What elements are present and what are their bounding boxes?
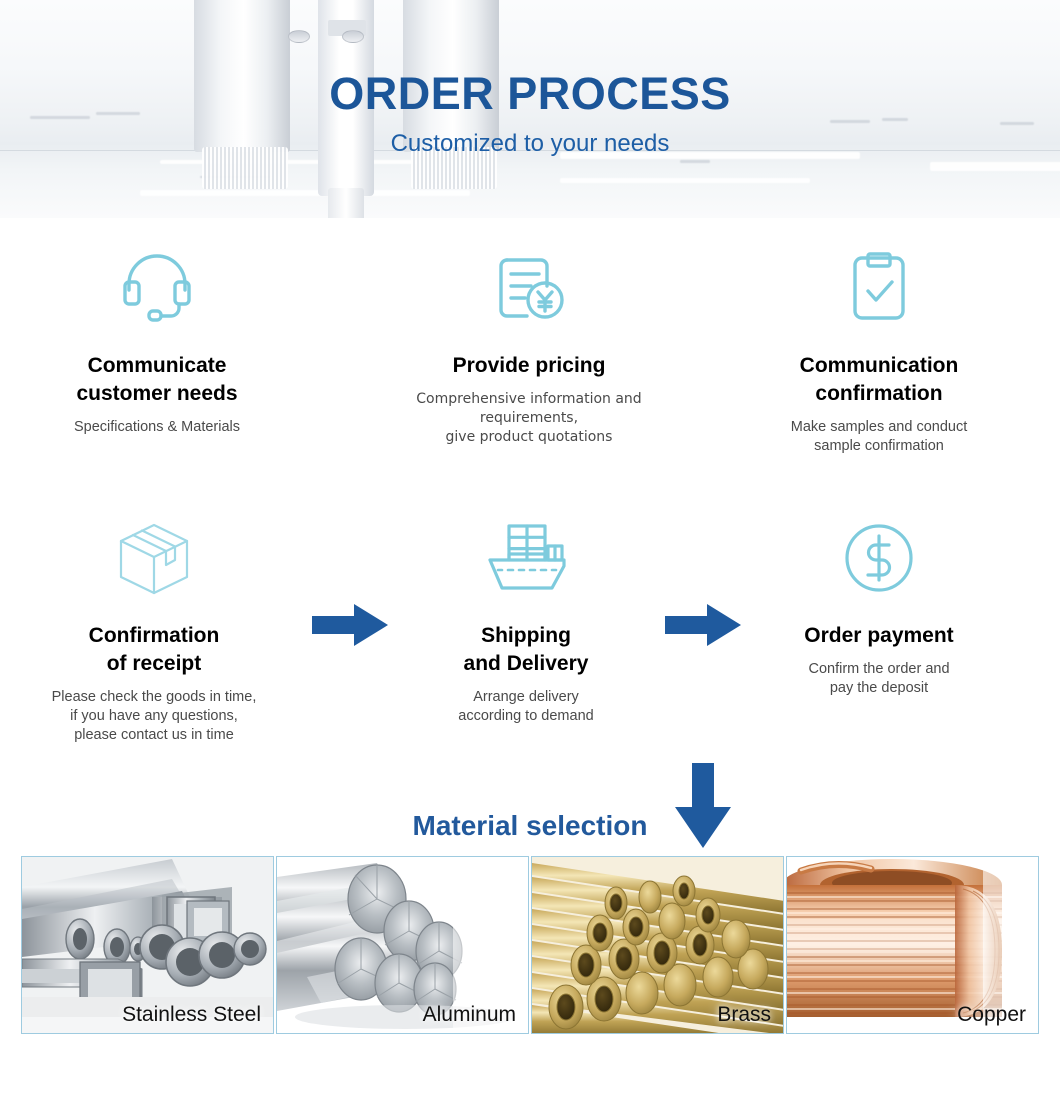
headset-icon (7, 238, 307, 338)
step-description-line: Confirm the order and (729, 660, 1029, 679)
material-card-copper[interactable]: Copper (786, 856, 1039, 1034)
step-title-line: Confirmation (4, 622, 304, 650)
step-description-line: please contact us in time (4, 726, 304, 745)
page-subtitle: Customized to your needs (0, 130, 1060, 158)
step-description-line: Make samples and conduct (729, 418, 1029, 437)
clipboard-check-icon (729, 238, 1029, 338)
material-selection-heading: Material selection (0, 810, 1060, 842)
material-card-brass[interactable]: Brass (531, 856, 784, 1034)
step-description-line: Comprehensive information and (379, 390, 679, 409)
step-title-line: Provide pricing (379, 352, 679, 380)
cargo-ship-icon (376, 508, 676, 608)
process-step-confirmation-of-receipt: Confirmation of receipt Please check the… (4, 508, 304, 745)
arrow-right-step2-step3 (665, 602, 741, 653)
process-step-communication-confirmation: Communication confirmation Make samples … (729, 238, 1029, 456)
step-title: Order payment (729, 622, 1029, 650)
step-title-line: Communicate (7, 352, 307, 380)
step-title: Confirmation of receipt (4, 622, 304, 678)
process-step-communicate-customer-needs: Communicate customer needs Specification… (7, 238, 307, 437)
material-label: Aluminum (423, 1003, 516, 1027)
dollar-circle-icon (729, 508, 1029, 608)
step-description: Please check the goods in time, if you h… (4, 688, 304, 745)
step-description-line: Please check the goods in time, (4, 688, 304, 707)
process-step-provide-pricing: Provide pricing Comprehensive informatio… (379, 238, 679, 447)
material-label: Stainless Steel (122, 1003, 261, 1027)
invoice-yen-icon (379, 238, 679, 338)
step-description-line: sample confirmation (729, 437, 1029, 456)
package-box-icon (4, 508, 304, 608)
step-description-line: if you have any questions, (4, 707, 304, 726)
step-description: Confirm the order and pay the deposit (729, 660, 1029, 698)
step-description-line: give product quotations (379, 428, 679, 447)
arrow-down-step3-step4 (673, 763, 733, 853)
step-description-line: according to demand (376, 707, 676, 726)
material-card-list: Stainless Steel (0, 856, 1060, 1046)
step-title-line: customer needs (7, 380, 307, 408)
step-description: Make samples and conduct sample confirma… (729, 418, 1029, 456)
process-step-shipping-and-delivery: Shipping and Delivery Arrange delivery a… (376, 508, 676, 726)
step-title: Communicate customer needs (7, 352, 307, 408)
step-description: Comprehensive information and requiremen… (379, 390, 679, 447)
step-title-line: Shipping (376, 622, 676, 650)
material-label: Brass (717, 1003, 771, 1027)
material-label: Copper (957, 1003, 1026, 1027)
material-card-stainless-steel[interactable]: Stainless Steel (21, 856, 274, 1034)
order-process-flow: Communicate customer needs Specification… (0, 218, 1060, 808)
step-title-line: Order payment (729, 622, 1029, 650)
material-card-aluminum[interactable]: Aluminum (276, 856, 529, 1034)
step-title-line: Communication (729, 352, 1029, 380)
step-title: Communication confirmation (729, 352, 1029, 408)
step-description-line: pay the deposit (729, 679, 1029, 698)
step-title: Shipping and Delivery (376, 622, 676, 678)
process-step-order-payment: Order payment Confirm the order and pay … (729, 508, 1029, 698)
step-title-line: confirmation (729, 380, 1029, 408)
arrow-right-step1-step2 (312, 602, 388, 653)
step-description: Arrange delivery according to demand (376, 688, 676, 726)
step-title-line: and Delivery (376, 650, 676, 678)
step-title-line: of receipt (4, 650, 304, 678)
step-description: Specifications & Materials (7, 418, 307, 437)
step-description-line: requirements, (379, 409, 679, 428)
page-title: ORDER PROCESS (0, 68, 1060, 120)
step-description-line: Arrange delivery (376, 688, 676, 707)
page-banner: ORDER PROCESS Customized to your needs (0, 0, 1060, 218)
step-title: Provide pricing (379, 352, 679, 380)
